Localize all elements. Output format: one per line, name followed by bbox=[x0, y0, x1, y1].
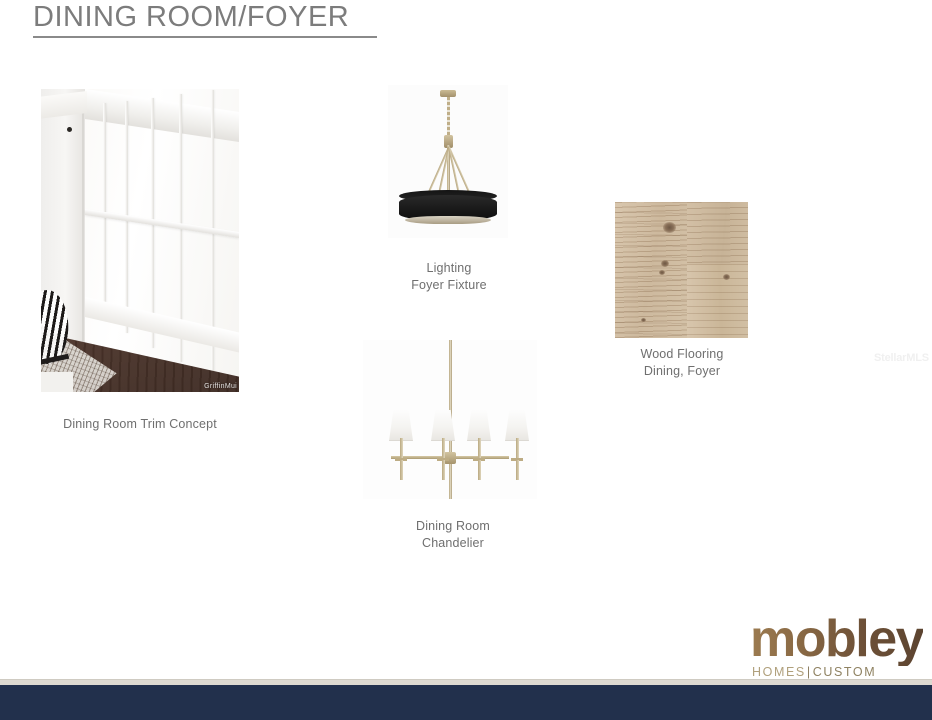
wood-knot bbox=[659, 270, 665, 275]
chandelier-shade bbox=[389, 410, 413, 441]
trim-ceiling-fixture-dot bbox=[67, 127, 72, 132]
chandelier-arm-drop bbox=[400, 460, 403, 480]
chandelier-arm bbox=[442, 438, 445, 460]
chandelier-arm bbox=[516, 438, 519, 460]
logo-tagline-custom: CUSTOM bbox=[813, 665, 877, 679]
wood-flooring-caption: Wood Flooring Dining, Foyer bbox=[608, 346, 756, 379]
wood-knot bbox=[661, 260, 669, 267]
wood-plank bbox=[615, 202, 687, 338]
dining-room-trim-image: GriffinMui bbox=[41, 89, 239, 392]
footer-navy-bar bbox=[0, 685, 932, 720]
logo-tagline-homes: HOMES bbox=[752, 665, 806, 679]
chandelier-arm-drop bbox=[516, 460, 519, 480]
logo-tagline-divider: | bbox=[806, 665, 813, 679]
wood-knot bbox=[641, 318, 646, 322]
trim-foreground-patch bbox=[41, 372, 73, 392]
foyer-chain bbox=[447, 97, 450, 137]
logo-tagline: HOMES|CUSTOM bbox=[752, 665, 876, 679]
chandelier-arm-drop bbox=[442, 460, 445, 480]
page-title: DINING ROOM/FOYER bbox=[33, 1, 349, 34]
dining-chandelier-image bbox=[363, 340, 537, 499]
mobley-homes-logo: mobley HOMES|CUSTOM bbox=[726, 612, 918, 674]
dining-room-trim-caption: Dining Room Trim Concept bbox=[18, 416, 262, 433]
chandelier-arm bbox=[400, 438, 403, 460]
wood-knot bbox=[723, 274, 730, 280]
chandelier-shade bbox=[467, 410, 491, 441]
dining-chandelier-caption: Dining Room Chandelier bbox=[382, 518, 524, 551]
chandelier-arm-drop bbox=[478, 460, 481, 480]
chandelier-shade bbox=[505, 410, 529, 441]
foyer-fixture-caption: Lighting Foyer Fixture bbox=[380, 260, 518, 293]
wood-plank bbox=[687, 264, 748, 338]
mls-watermark: StellarMLS bbox=[874, 352, 929, 364]
title-underline bbox=[33, 36, 377, 38]
wood-plank bbox=[687, 202, 748, 264]
wood-knot bbox=[663, 222, 676, 233]
foyer-diffuser bbox=[405, 216, 491, 224]
foyer-fixture-image bbox=[388, 85, 508, 238]
foyer-canopy bbox=[440, 90, 456, 97]
logo-wordmark: mobley bbox=[750, 612, 923, 666]
photo-watermark: GriffinMui bbox=[204, 383, 237, 390]
wood-flooring-image bbox=[615, 202, 748, 338]
slide-canvas: DINING ROOM/FOYER GriffinMui Dining Room… bbox=[0, 0, 932, 720]
chandelier-arm bbox=[478, 438, 481, 460]
